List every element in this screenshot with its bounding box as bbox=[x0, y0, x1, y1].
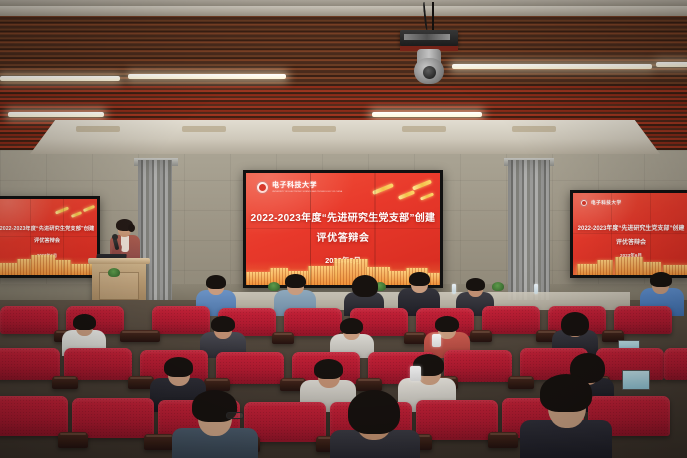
judge-5-hair bbox=[466, 278, 485, 291]
judge-4-hair bbox=[409, 272, 430, 286]
tube-light-5 bbox=[8, 112, 104, 117]
seat[interactable] bbox=[0, 396, 68, 436]
ribbon-1 bbox=[55, 206, 69, 214]
building-3 bbox=[31, 255, 55, 275]
building-1 bbox=[0, 263, 17, 275]
attendee-row2-3-hair bbox=[340, 318, 363, 334]
seat-armrest bbox=[356, 378, 382, 391]
curtain-right bbox=[508, 160, 550, 310]
tube-light-3 bbox=[452, 64, 652, 69]
seat-armrest bbox=[470, 330, 492, 342]
ribbon-1 bbox=[372, 183, 394, 195]
soffit-vent-2 bbox=[182, 126, 226, 132]
ribbon-3 bbox=[83, 205, 95, 212]
camera-lens-icon bbox=[423, 66, 436, 79]
table-plant-3 bbox=[492, 282, 504, 291]
right-screen-logo: 电子科技大学 bbox=[580, 199, 622, 207]
attendee-row2-1-hair bbox=[73, 314, 96, 330]
tube-light-1 bbox=[0, 76, 120, 81]
building-3 bbox=[615, 257, 643, 275]
ribbon-2 bbox=[398, 190, 415, 200]
seat[interactable] bbox=[0, 348, 60, 380]
seat-armrest bbox=[204, 378, 230, 391]
soffit-vent-5 bbox=[512, 126, 556, 132]
attendee-right-blue-hair bbox=[650, 272, 672, 287]
attendee-row2-4-hair bbox=[435, 316, 459, 332]
podium-top bbox=[88, 258, 150, 264]
university-name-en: UNIVERSITY OF ELECTRONIC SCIENCE AND TEC… bbox=[272, 191, 342, 193]
auditorium-photo: 2022-2023年度“先进研究生党支部”创建 评优答辩会 2023年6月 电子… bbox=[0, 0, 687, 458]
ceiling-beam-front bbox=[0, 6, 687, 16]
microphone-head-icon bbox=[112, 234, 118, 240]
university-name: 电子科技大学 bbox=[272, 182, 342, 189]
smartphone-icon[interactable] bbox=[410, 366, 421, 381]
left-screen-title-line2: 评优答辩会 bbox=[0, 237, 97, 244]
ptz-camera-mount bbox=[400, 30, 458, 46]
building-2 bbox=[17, 259, 31, 275]
main-led-screen[interactable]: 电子科技大学 UNIVERSITY OF ELECTRONIC SCIENCE … bbox=[243, 170, 443, 288]
speaker-hair-bun bbox=[128, 224, 135, 232]
ribbon-4 bbox=[420, 192, 434, 200]
soffit-vent-4 bbox=[402, 126, 446, 132]
smartphone-icon[interactable] bbox=[432, 334, 441, 347]
main-screen-title-line1: 2022-2023年度“先进研究生党支部”创建 bbox=[246, 209, 440, 224]
stage-plant bbox=[108, 268, 120, 277]
left-screen-skyline bbox=[0, 251, 97, 275]
building-7 bbox=[388, 271, 408, 285]
water-bottle-3 bbox=[452, 284, 456, 294]
water-bottle-4 bbox=[534, 284, 538, 294]
right-screen-title-line1: 2022-2023年度“先进研究生党支部”创建 bbox=[573, 223, 687, 232]
attendee-row2-2-hair bbox=[211, 316, 235, 332]
ribbon-decor-left bbox=[53, 205, 97, 219]
seat-armrest bbox=[52, 376, 78, 389]
building-1 bbox=[577, 264, 597, 275]
podium-front-panel bbox=[99, 272, 139, 300]
seat[interactable] bbox=[284, 308, 342, 336]
table-plant-1 bbox=[268, 282, 280, 291]
seat[interactable] bbox=[664, 348, 687, 380]
attendee-laptop[interactable] bbox=[622, 370, 650, 390]
seat-armrest bbox=[120, 330, 160, 342]
seat-armrest bbox=[272, 332, 294, 344]
right-screen-title-line2: 评优答辩会 bbox=[573, 237, 687, 246]
main-screen-title-line2: 评优答辩会 bbox=[246, 229, 440, 244]
speaker-shirt bbox=[121, 236, 129, 252]
main-screen-logo: 电子科技大学 UNIVERSITY OF ELECTRONIC SCIENCE … bbox=[256, 181, 342, 194]
ribbon-decor-main bbox=[372, 181, 436, 201]
seat[interactable] bbox=[152, 306, 210, 334]
tube-light-4 bbox=[656, 62, 687, 67]
building-5 bbox=[71, 264, 93, 275]
left-led-screen[interactable]: 2022-2023年度“先进研究生党支部”创建 评优答辩会 2023年6月 bbox=[0, 196, 100, 278]
attendee-row2-5-hair-long bbox=[561, 312, 589, 336]
university-seal-icon bbox=[256, 181, 269, 194]
right-led-screen[interactable]: 电子科技大学 2022-2023年度“先进研究生党支部”创建 评优答辩会 202… bbox=[570, 190, 687, 278]
building-2 bbox=[597, 260, 613, 275]
seat-armrest bbox=[488, 432, 518, 448]
seat-armrest bbox=[508, 376, 534, 389]
university-seal-icon bbox=[580, 199, 588, 207]
attendee-row3-2-hair bbox=[314, 359, 343, 379]
attendee-front-3-hair bbox=[540, 374, 592, 412]
judge-1-hair bbox=[206, 275, 226, 289]
right-screen-skyline bbox=[573, 253, 687, 275]
left-screen-title-line1: 2022-2023年度“先进研究生党支部”创建 bbox=[0, 225, 97, 232]
university-name: 电子科技大学 bbox=[591, 200, 622, 206]
ribbon-3 bbox=[412, 179, 432, 190]
tube-light-6 bbox=[372, 112, 482, 117]
ribbon-2 bbox=[71, 211, 82, 218]
eyeglasses-icon bbox=[226, 412, 244, 419]
soffit-vent-3 bbox=[292, 126, 336, 132]
soffit-vent-1 bbox=[76, 126, 120, 132]
seat[interactable] bbox=[0, 306, 58, 334]
attendee-front-2-hair-long bbox=[348, 390, 400, 434]
judge-2-hair bbox=[285, 274, 306, 288]
seat-armrest bbox=[58, 432, 88, 448]
seat-armrest bbox=[144, 434, 174, 450]
stage-soffit bbox=[30, 120, 660, 154]
seat[interactable] bbox=[614, 306, 672, 334]
building-4 bbox=[55, 260, 71, 275]
seat-armrest bbox=[404, 332, 426, 344]
seat[interactable] bbox=[482, 306, 540, 334]
tube-light-2 bbox=[128, 74, 286, 79]
attendee-row3-1-hair bbox=[164, 357, 193, 377]
judge-3-hair-long bbox=[352, 275, 378, 297]
